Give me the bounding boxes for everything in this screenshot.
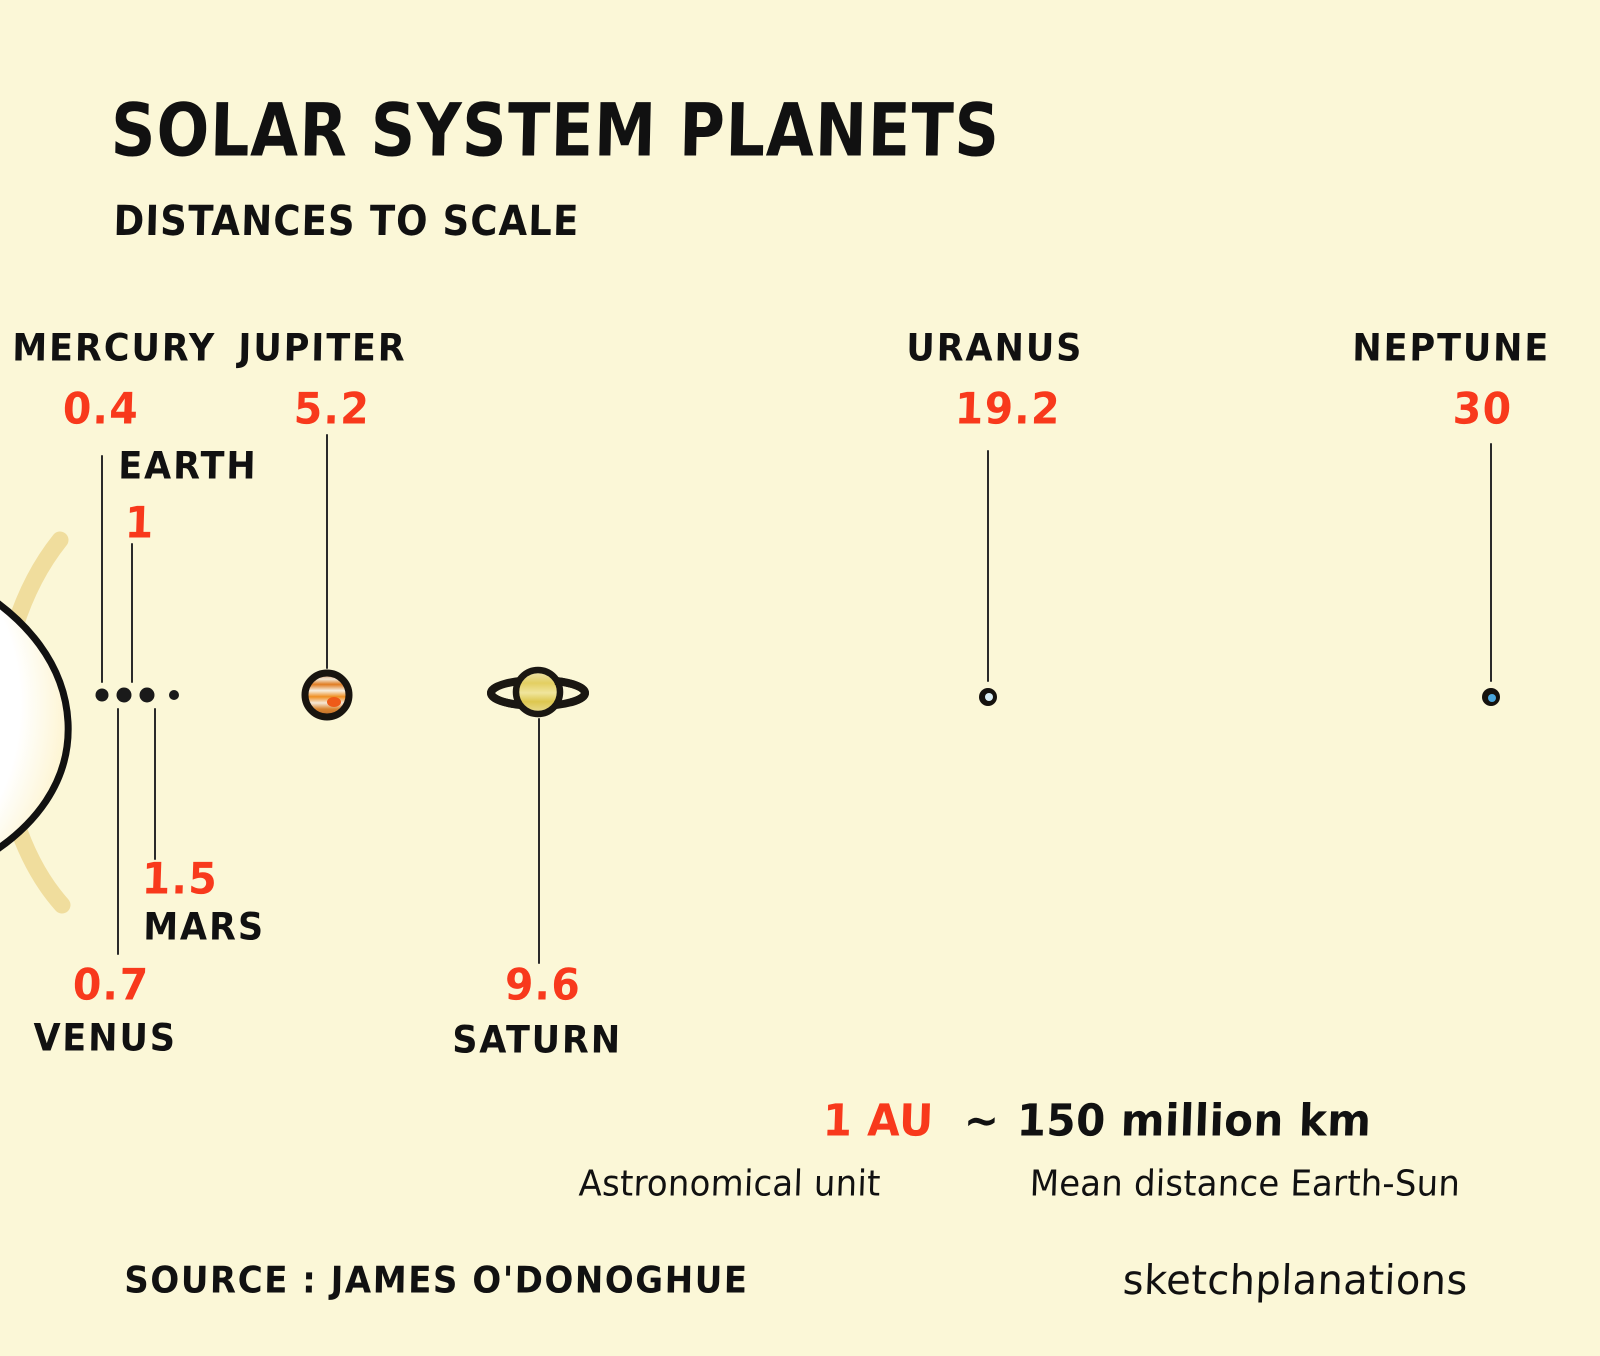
sun (0, 535, 68, 912)
distance-earth: 1 (124, 497, 155, 548)
planet-neptune (1482, 688, 1500, 706)
label-uranus: URANUS (906, 327, 1084, 370)
label-mercury: MERCURY (12, 327, 216, 370)
leader-line-venus (117, 708, 119, 955)
inner-planet-dots (96, 688, 180, 703)
distance-jupiter: 5.2 (293, 383, 371, 434)
planet-venus (117, 688, 132, 703)
distance-neptune: 30 (1452, 383, 1513, 434)
planet-mars (169, 690, 179, 700)
planet-uranus (979, 688, 997, 706)
label-mars: MARS (143, 906, 265, 949)
distance-saturn: 9.6 (504, 959, 582, 1010)
leader-line-earth (131, 543, 133, 683)
leader-line-saturn (538, 718, 540, 964)
page-title: SOLAR SYSTEM PLANETS (110, 87, 1001, 173)
distance-uranus: 19.2 (954, 383, 1062, 434)
au-value: 1 AU (822, 1095, 935, 1146)
planet-earth (140, 688, 155, 703)
leader-line-jupiter (326, 434, 328, 669)
sketch-infographic: SOLAR SYSTEM PLANETS DISTANCES TO SCALE … (0, 0, 1600, 1356)
page-subtitle: DISTANCES TO SCALE (113, 197, 580, 245)
leader-line-mars (154, 708, 156, 860)
km-value: 150 million km (1016, 1095, 1372, 1146)
planet-mercury (96, 689, 109, 702)
brand-signature: sketchplanations (1122, 1257, 1469, 1304)
label-neptune: NEPTUNE (1352, 327, 1551, 370)
km-caption: Mean distance Earth-Sun (1029, 1163, 1461, 1205)
leader-line-mercury (101, 455, 103, 683)
label-venus: VENUS (33, 1017, 177, 1060)
leader-line-uranus (987, 450, 989, 682)
label-jupiter: JUPITER (238, 327, 407, 370)
distance-mercury: 0.4 (62, 383, 140, 434)
au-caption: Astronomical unit (578, 1163, 881, 1205)
leader-line-neptune (1490, 443, 1492, 682)
distance-venus: 0.7 (72, 959, 150, 1010)
label-earth: EARTH (118, 445, 258, 488)
planet-jupiter (305, 673, 349, 717)
planet-saturn (491, 670, 585, 714)
approx-symbol: ~ (963, 1095, 1000, 1146)
label-saturn: SATURN (452, 1019, 622, 1062)
distance-mars: 1.5 (141, 853, 219, 904)
source-credit: SOURCE : JAMES O'DONOGHUE (124, 1259, 749, 1302)
